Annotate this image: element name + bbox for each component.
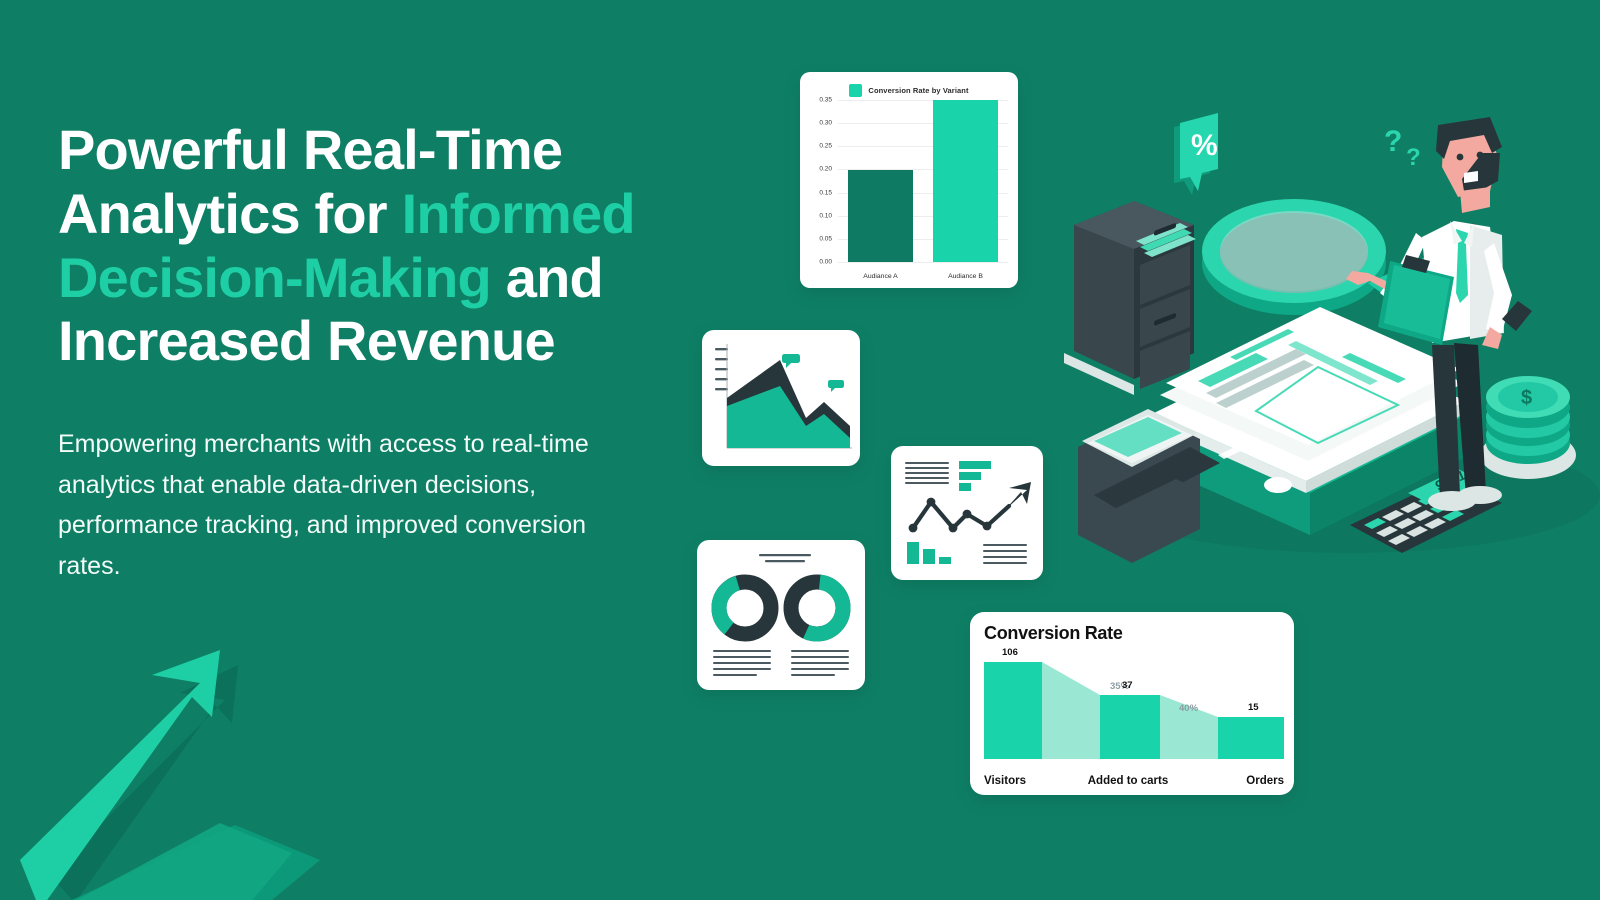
funnel-x-labels: Visitors Added to carts Orders — [984, 775, 1284, 787]
funnel-connector-label-2: 40% — [1179, 703, 1198, 714]
chart-legend: Conversion Rate by Variant — [800, 84, 1018, 97]
donut-right — [788, 579, 845, 636]
title-placeholder-lines — [759, 554, 811, 562]
chart-plot-area — [838, 100, 1008, 262]
funnel-connector-1 — [1042, 662, 1100, 759]
bar-audiance-a[interactable] — [848, 170, 913, 263]
x-axis-tick-labels: Audiance A Audiance B — [838, 273, 1008, 280]
funnel-bar-orders — [1218, 717, 1284, 759]
mini-line-chart-graphic — [891, 446, 1043, 580]
mini-donuts-graphic — [697, 540, 865, 690]
coin-dollar-symbol: $ — [1521, 387, 1532, 409]
footer-placeholder-lines — [983, 544, 1027, 564]
coin-stack-icon: $ — [1480, 376, 1576, 479]
page-title: Powerful Real-Time Analytics for Informe… — [58, 118, 698, 373]
y-tick-4: 0.20 — [819, 166, 832, 173]
svg-text:?: ? — [1384, 125, 1402, 158]
y-tick-1: 0.05 — [819, 235, 832, 242]
chart-card-mini-donuts[interactable] — [697, 540, 865, 690]
funnel-plot-area: 106 35% 37 40% 15 — [984, 662, 1284, 759]
legend-label: Conversion Rate by Variant — [868, 86, 968, 95]
funnel-value-visitors: 106 — [1002, 647, 1018, 658]
chart-bars — [838, 100, 1008, 262]
tooltip-bubble-icon — [782, 354, 800, 368]
svg-text:%: % — [1191, 129, 1218, 162]
funnel-label-visitors: Visitors — [984, 775, 1050, 787]
donut-left — [709, 572, 782, 645]
percent-badge-icon: % — [1174, 113, 1218, 195]
bar-audiance-b[interactable] — [933, 100, 998, 262]
funnel-value-added-to-carts: 37 — [1122, 680, 1133, 691]
funnel-label-added-to-carts: Added to carts — [1050, 775, 1206, 787]
hero-copy: Powerful Real-Time Analytics for Informe… — [58, 118, 698, 373]
hero-subcopy: Empowering merchants with access to real… — [58, 424, 638, 586]
legend-swatch-icon — [849, 84, 862, 97]
y-tick-2: 0.10 — [819, 212, 832, 219]
funnel-label-orders: Orders — [1206, 775, 1284, 787]
funnel-value-orders: 15 — [1248, 702, 1259, 713]
chart-card-mini-line[interactable] — [891, 446, 1043, 580]
funnel-bar-added-to-carts — [1100, 695, 1160, 759]
hero-slide: Powerful Real-Time Analytics for Informe… — [0, 0, 1600, 900]
mini-vertical-bars — [907, 542, 951, 564]
mini-horizontal-bars — [959, 461, 991, 491]
funnel-bar-visitors — [984, 662, 1042, 759]
chart-card-mini-area[interactable] — [702, 330, 860, 466]
x-tick-audiance-a: Audiance A — [838, 273, 923, 280]
y-tick-7: 0.35 — [819, 97, 832, 104]
x-tick-audiance-b: Audiance B — [923, 273, 1008, 280]
text-placeholder-lines — [905, 462, 949, 484]
svg-text:?: ? — [1406, 144, 1421, 171]
chart-card-conversion-rate-by-variant[interactable]: Conversion Rate by Variant 0.35 0.30 0.2… — [800, 72, 1018, 288]
axis-ticks-icon — [715, 348, 728, 390]
isometric-analytics-desk-scene: % ? ? — [1050, 95, 1600, 565]
mini-area-chart-graphic — [702, 330, 860, 466]
question-marks-icon: ? ? — [1384, 125, 1421, 171]
y-tick-5: 0.25 — [819, 143, 832, 150]
chart-card-conversion-rate-funnel[interactable]: Conversion Rate 106 35% 37 40% 15 Visito… — [970, 612, 1294, 795]
funnel-title: Conversion Rate — [984, 623, 1123, 644]
y-axis-tick-labels: 0.35 0.30 0.25 0.20 0.15 0.10 0.05 0.00 — [800, 100, 834, 262]
y-tick-3: 0.15 — [819, 189, 832, 196]
legend-placeholder-lines-left — [713, 650, 771, 676]
legend-placeholder-lines-right — [791, 650, 849, 676]
filing-cabinet-icon — [1064, 201, 1196, 395]
growth-arrows-decoration — [20, 645, 320, 900]
y-tick-0: 0.00 — [819, 259, 832, 266]
tooltip-bubble-icon-2 — [828, 380, 844, 392]
y-tick-6: 0.30 — [819, 120, 832, 127]
